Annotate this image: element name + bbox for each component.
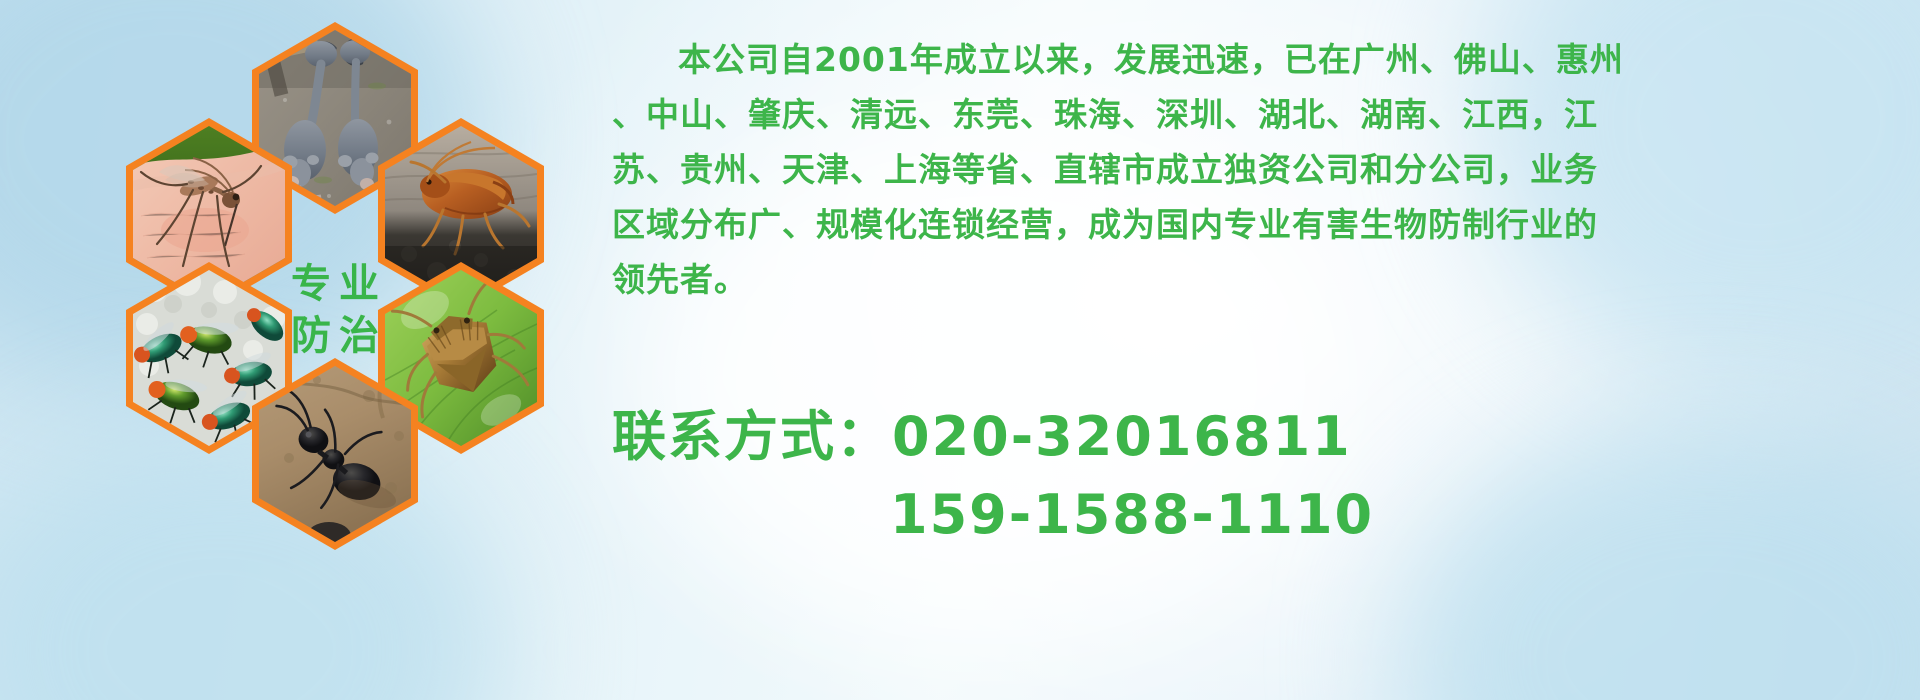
copy-line-5: 领先者。: [612, 252, 1904, 307]
ant-photo-illustration: [259, 366, 411, 542]
company-description: 本公司自2001年成立以来，发展迅速，已在广州、佛山、惠州 、中山、肇庆、清远、…: [612, 32, 1904, 307]
copy-line-4: 区域分布广、规模化连锁经营，成为国内专业有害生物防制行业的: [612, 197, 1904, 252]
copy-line-3: 苏、贵州、天津、上海等省、直辖市成立独资公司和分公司，业务: [612, 142, 1904, 197]
contact-block: 联系方式：020-32016811 159-1588-1110: [612, 398, 1912, 554]
slogan-line-1: 专业: [283, 264, 387, 304]
copy-line-1: 本公司自2001年成立以来，发展迅速，已在广州、佛山、惠州: [612, 32, 1904, 87]
contact-phone-mobile[interactable]: 159-1588-1110: [612, 476, 1912, 554]
copy-line-2: 、中山、肇庆、清远、东莞、珠海、深圳、湖北、湖南、江西，江: [612, 87, 1904, 142]
hex-photo-ant: [259, 366, 411, 542]
honeycomb-collage: 专业 防治: [84, 8, 584, 573]
promo-banner: 专业 防治: [0, 0, 1920, 700]
slogan-line-2: 防治: [283, 316, 387, 356]
contact-phone-main[interactable]: 联系方式：020-32016811: [612, 398, 1912, 476]
